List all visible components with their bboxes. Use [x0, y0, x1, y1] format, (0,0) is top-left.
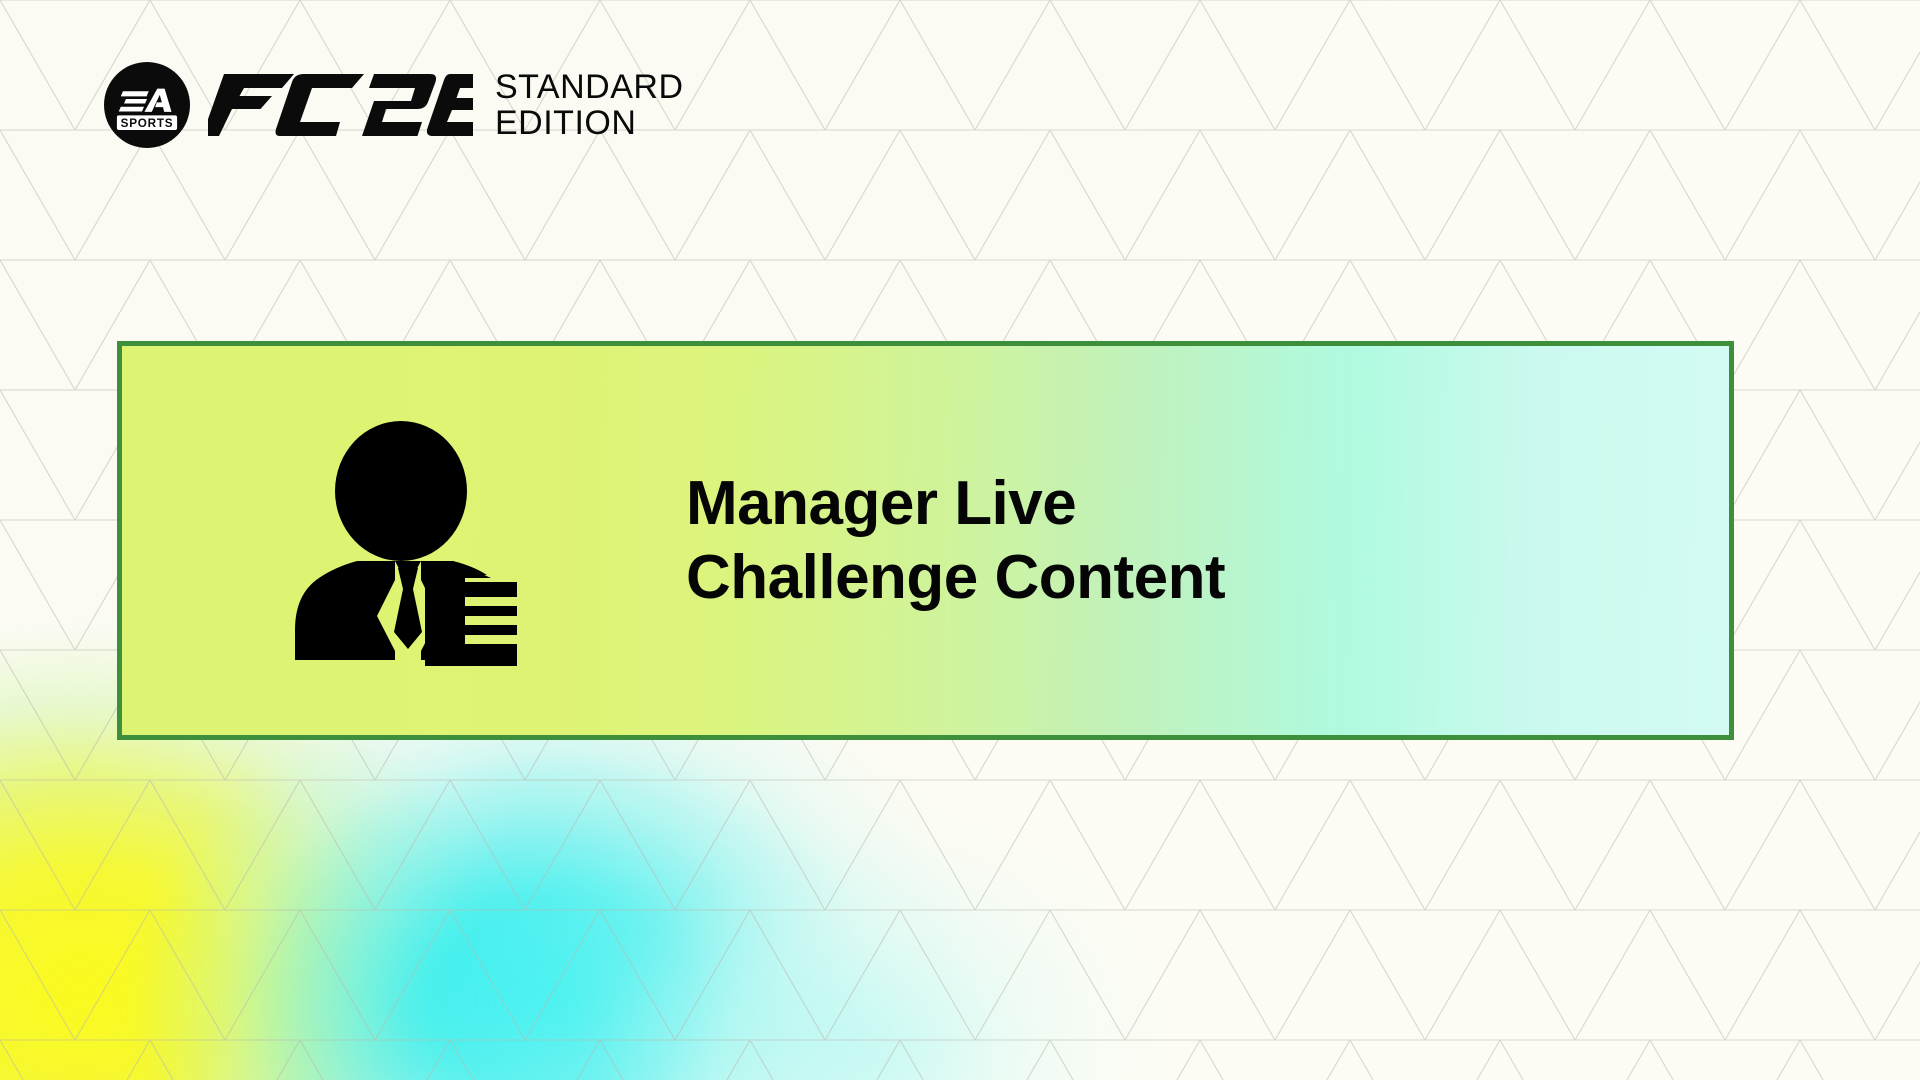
ea-sports-fc26-logo-lockup: SPORTS STANDARD EDITION	[104, 62, 684, 148]
feature-title-line-2: Challenge Content	[686, 541, 1225, 614]
manager-document-icon	[277, 416, 527, 666]
ea-sports-badge-icon: SPORTS	[104, 62, 190, 148]
feature-card-title: Manager Live Challenge Content	[682, 467, 1225, 613]
fc26-wordmark	[208, 74, 473, 136]
edition-line-2: EDITION	[495, 105, 684, 141]
feature-card[interactable]: Manager Live Challenge Content	[117, 341, 1734, 740]
feature-icon-container	[122, 416, 682, 666]
svg-text:SPORTS: SPORTS	[121, 117, 174, 130]
edition-label: STANDARD EDITION	[495, 69, 684, 141]
promo-banner: SPORTS STANDARD EDITION	[0, 0, 1920, 1080]
background-cyan-glow-secondary	[520, 780, 1240, 1080]
edition-line-1: STANDARD	[495, 69, 684, 105]
feature-title-line-1: Manager Live	[686, 467, 1225, 540]
